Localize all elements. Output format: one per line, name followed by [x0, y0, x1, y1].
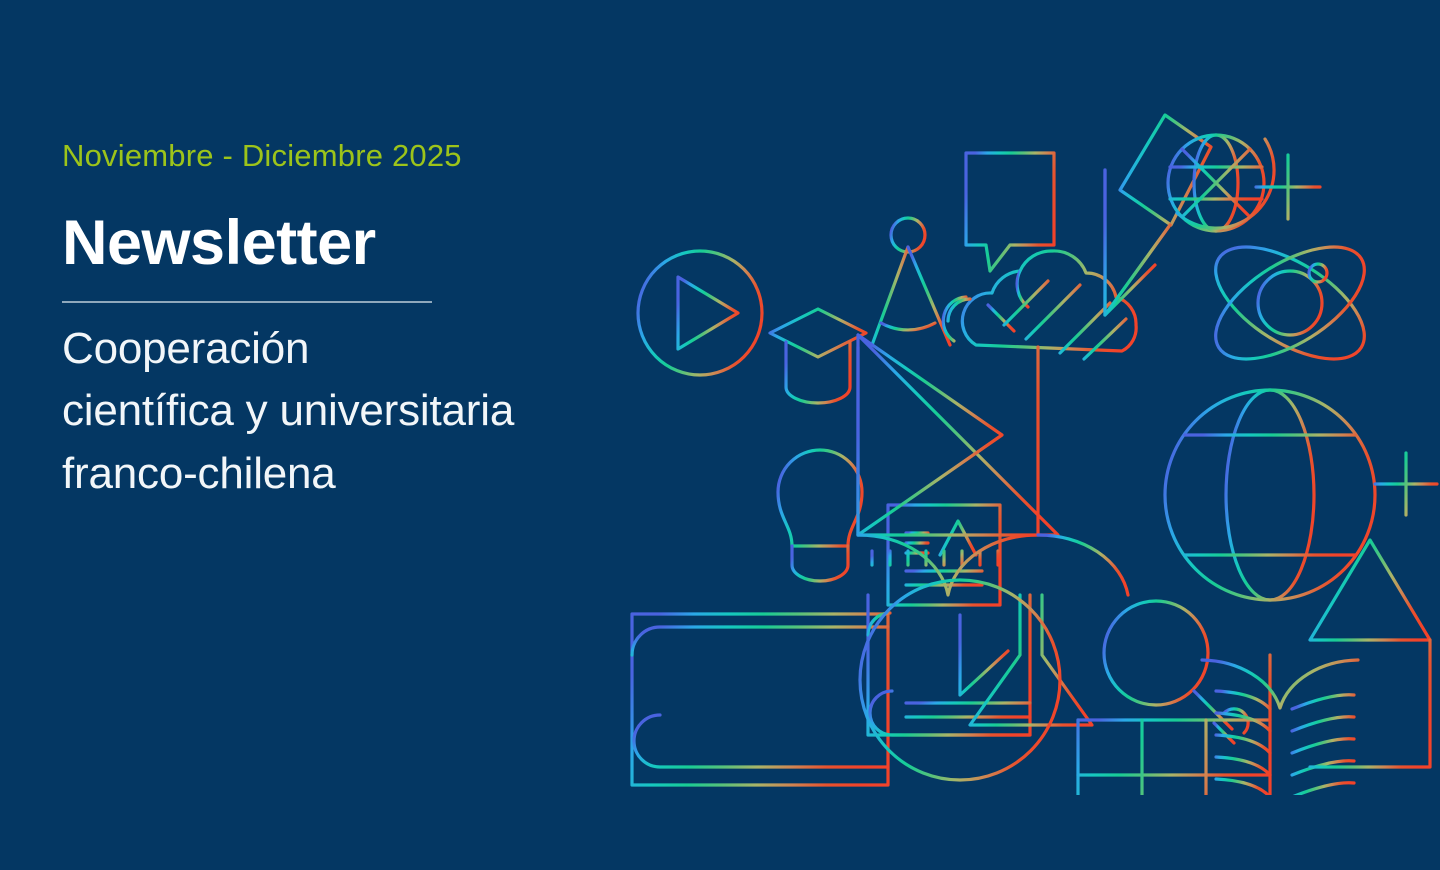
connector-lines — [632, 235, 1440, 655]
magnifier-icon — [1104, 601, 1248, 743]
atom-icon — [1198, 225, 1383, 382]
issue-date: Noviembre - Diciembre 2025 — [62, 138, 682, 174]
brain-icon — [943, 251, 1136, 359]
desk-globe-icon — [1168, 135, 1274, 255]
subtitle-line-3: franco-chilena — [62, 443, 682, 505]
compass-icon — [872, 205, 950, 345]
notebook-icon — [868, 595, 1030, 735]
graduation-cap-icon — [770, 309, 866, 403]
page-title: Newsletter — [62, 210, 682, 276]
text-panel: Noviembre - Diciembre 2025 Newsletter Co… — [62, 138, 682, 505]
light-bulb-icon — [778, 450, 862, 581]
subtitle-line-2: científica y universitaria — [62, 380, 682, 442]
subtitle-line-1: Cooperación — [62, 318, 682, 380]
title-divider — [62, 301, 432, 303]
newsletter-cover: Noviembre - Diciembre 2025 Newsletter Co… — [0, 0, 1440, 870]
triangle-icon — [1310, 540, 1430, 767]
play-button-circle-icon — [638, 251, 762, 375]
globe-sphere-icon — [1165, 390, 1375, 600]
closed-book-icon — [632, 614, 888, 785]
plus-icon-bottom — [1375, 453, 1437, 515]
plus-icon-top — [1256, 155, 1320, 219]
page-subtitle: Cooperación científica y universitaria f… — [62, 318, 682, 505]
grid-calendar-icon — [1078, 655, 1270, 795]
pencil-icon — [896, 115, 1250, 317]
hero-illustration — [610, 95, 1440, 795]
